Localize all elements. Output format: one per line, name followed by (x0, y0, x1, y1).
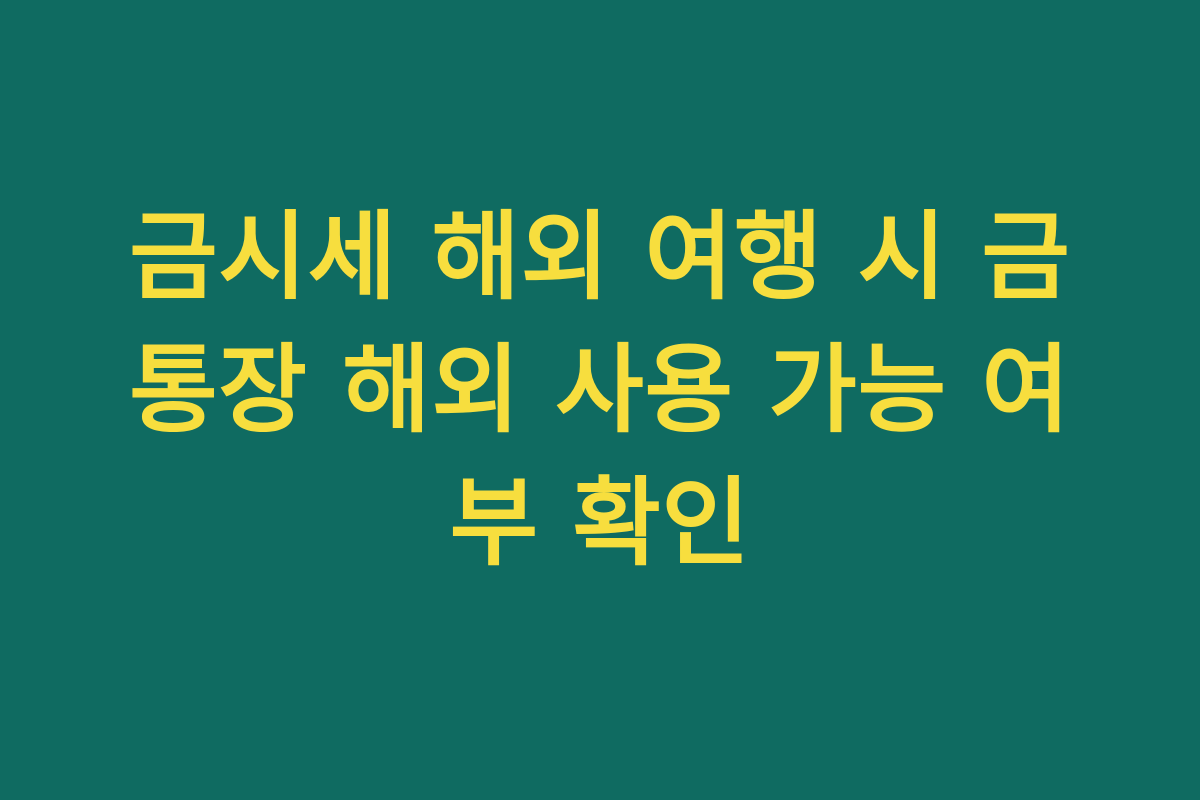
headline-line-2: 통장 해외 사용 가능 여 (70, 324, 1130, 457)
thumbnail-card: 금시세 해외 여행 시 금 통장 해외 사용 가능 여 부 확인 (0, 0, 1200, 800)
headline-line-1: 금시세 해외 여행 시 금 (70, 191, 1130, 324)
headline-line-3: 부 확인 (70, 457, 1130, 590)
headline: 금시세 해외 여행 시 금 통장 해외 사용 가능 여 부 확인 (70, 191, 1130, 590)
